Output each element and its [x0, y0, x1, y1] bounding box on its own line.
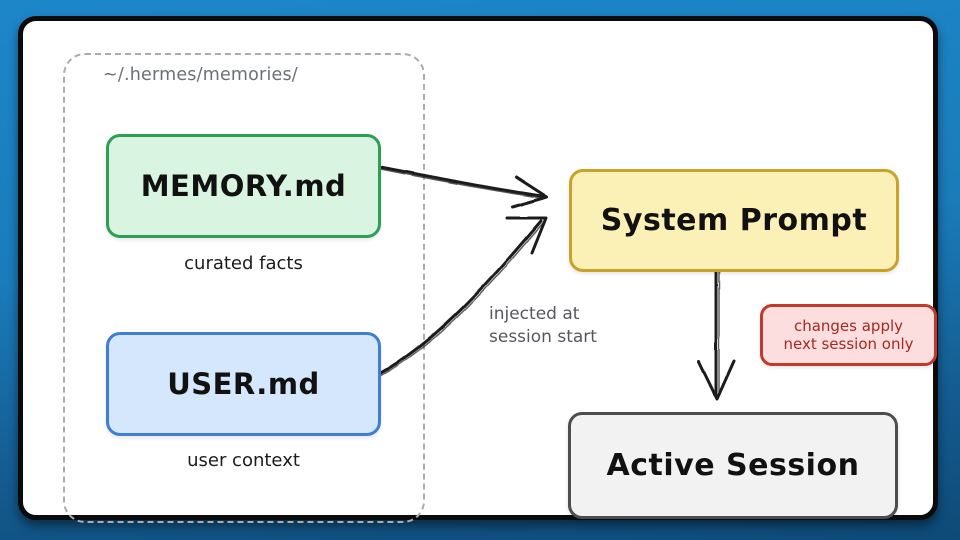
node-user-file-label: USER.md [167, 369, 320, 399]
edge-label-injected-at-session-start: injected at session start [489, 303, 597, 349]
node-system-prompt-label: System Prompt [601, 205, 867, 237]
node-user-file[interactable]: USER.md [106, 332, 381, 436]
folder-path-label: ~/.hermes/memories/ [103, 65, 298, 85]
node-system-prompt[interactable]: System Prompt [569, 169, 899, 272]
callout-changes-apply-next-session: changes apply next session only [760, 304, 937, 366]
node-memory-file-label: MEMORY.md [141, 171, 347, 201]
diagram-canvas: ~/.hermes/memories/ [18, 16, 938, 520]
caption-memory-file: curated facts [106, 253, 381, 274]
node-memory-file[interactable]: MEMORY.md [106, 134, 381, 238]
arrow-system-to-active [699, 258, 734, 399]
callout-line-2: next session only [783, 335, 913, 353]
diagram-stage: ~/.hermes/memories/ [0, 0, 960, 540]
callout-line-1: changes apply [794, 317, 903, 335]
edge-label-line-2: session start [489, 326, 597, 349]
caption-user-file: user context [106, 450, 381, 471]
node-active-session-label: Active Session [607, 450, 860, 482]
node-active-session[interactable]: Active Session [568, 412, 898, 519]
edge-label-line-1: injected at [489, 303, 597, 326]
